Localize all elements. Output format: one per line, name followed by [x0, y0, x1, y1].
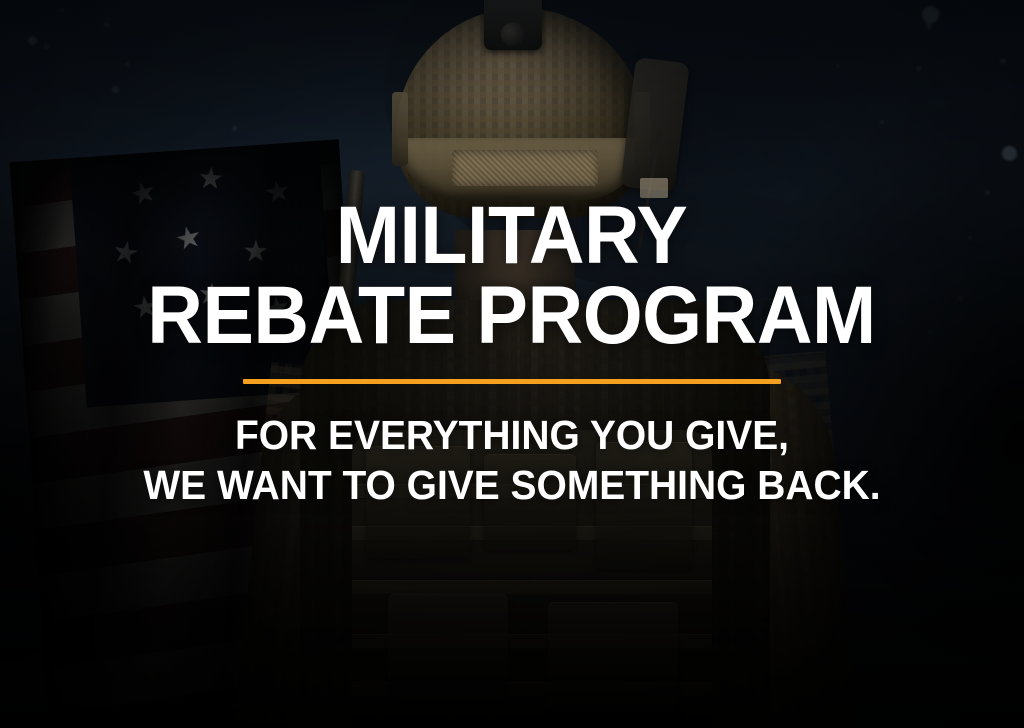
headline-line-1: MILITARY	[336, 190, 688, 281]
banner-text-overlay: MILITARY REBATE PROGRAM FOR EVERYTHING Y…	[0, 0, 1024, 728]
orange-divider-rule	[243, 379, 781, 384]
military-rebate-banner: ★ ★ ★ ★ ★ ★ ★ ★ ★	[0, 0, 1024, 728]
headline: MILITARY REBATE PROGRAM	[148, 196, 877, 357]
subheadline: FOR EVERYTHING YOU GIVE, WE WANT TO GIVE…	[143, 410, 880, 510]
subheadline-line-1: FOR EVERYTHING YOU GIVE,	[143, 410, 880, 460]
headline-line-2: REBATE PROGRAM	[148, 276, 877, 356]
subheadline-line-2: WE WANT TO GIVE SOMETHING BACK.	[143, 460, 880, 510]
